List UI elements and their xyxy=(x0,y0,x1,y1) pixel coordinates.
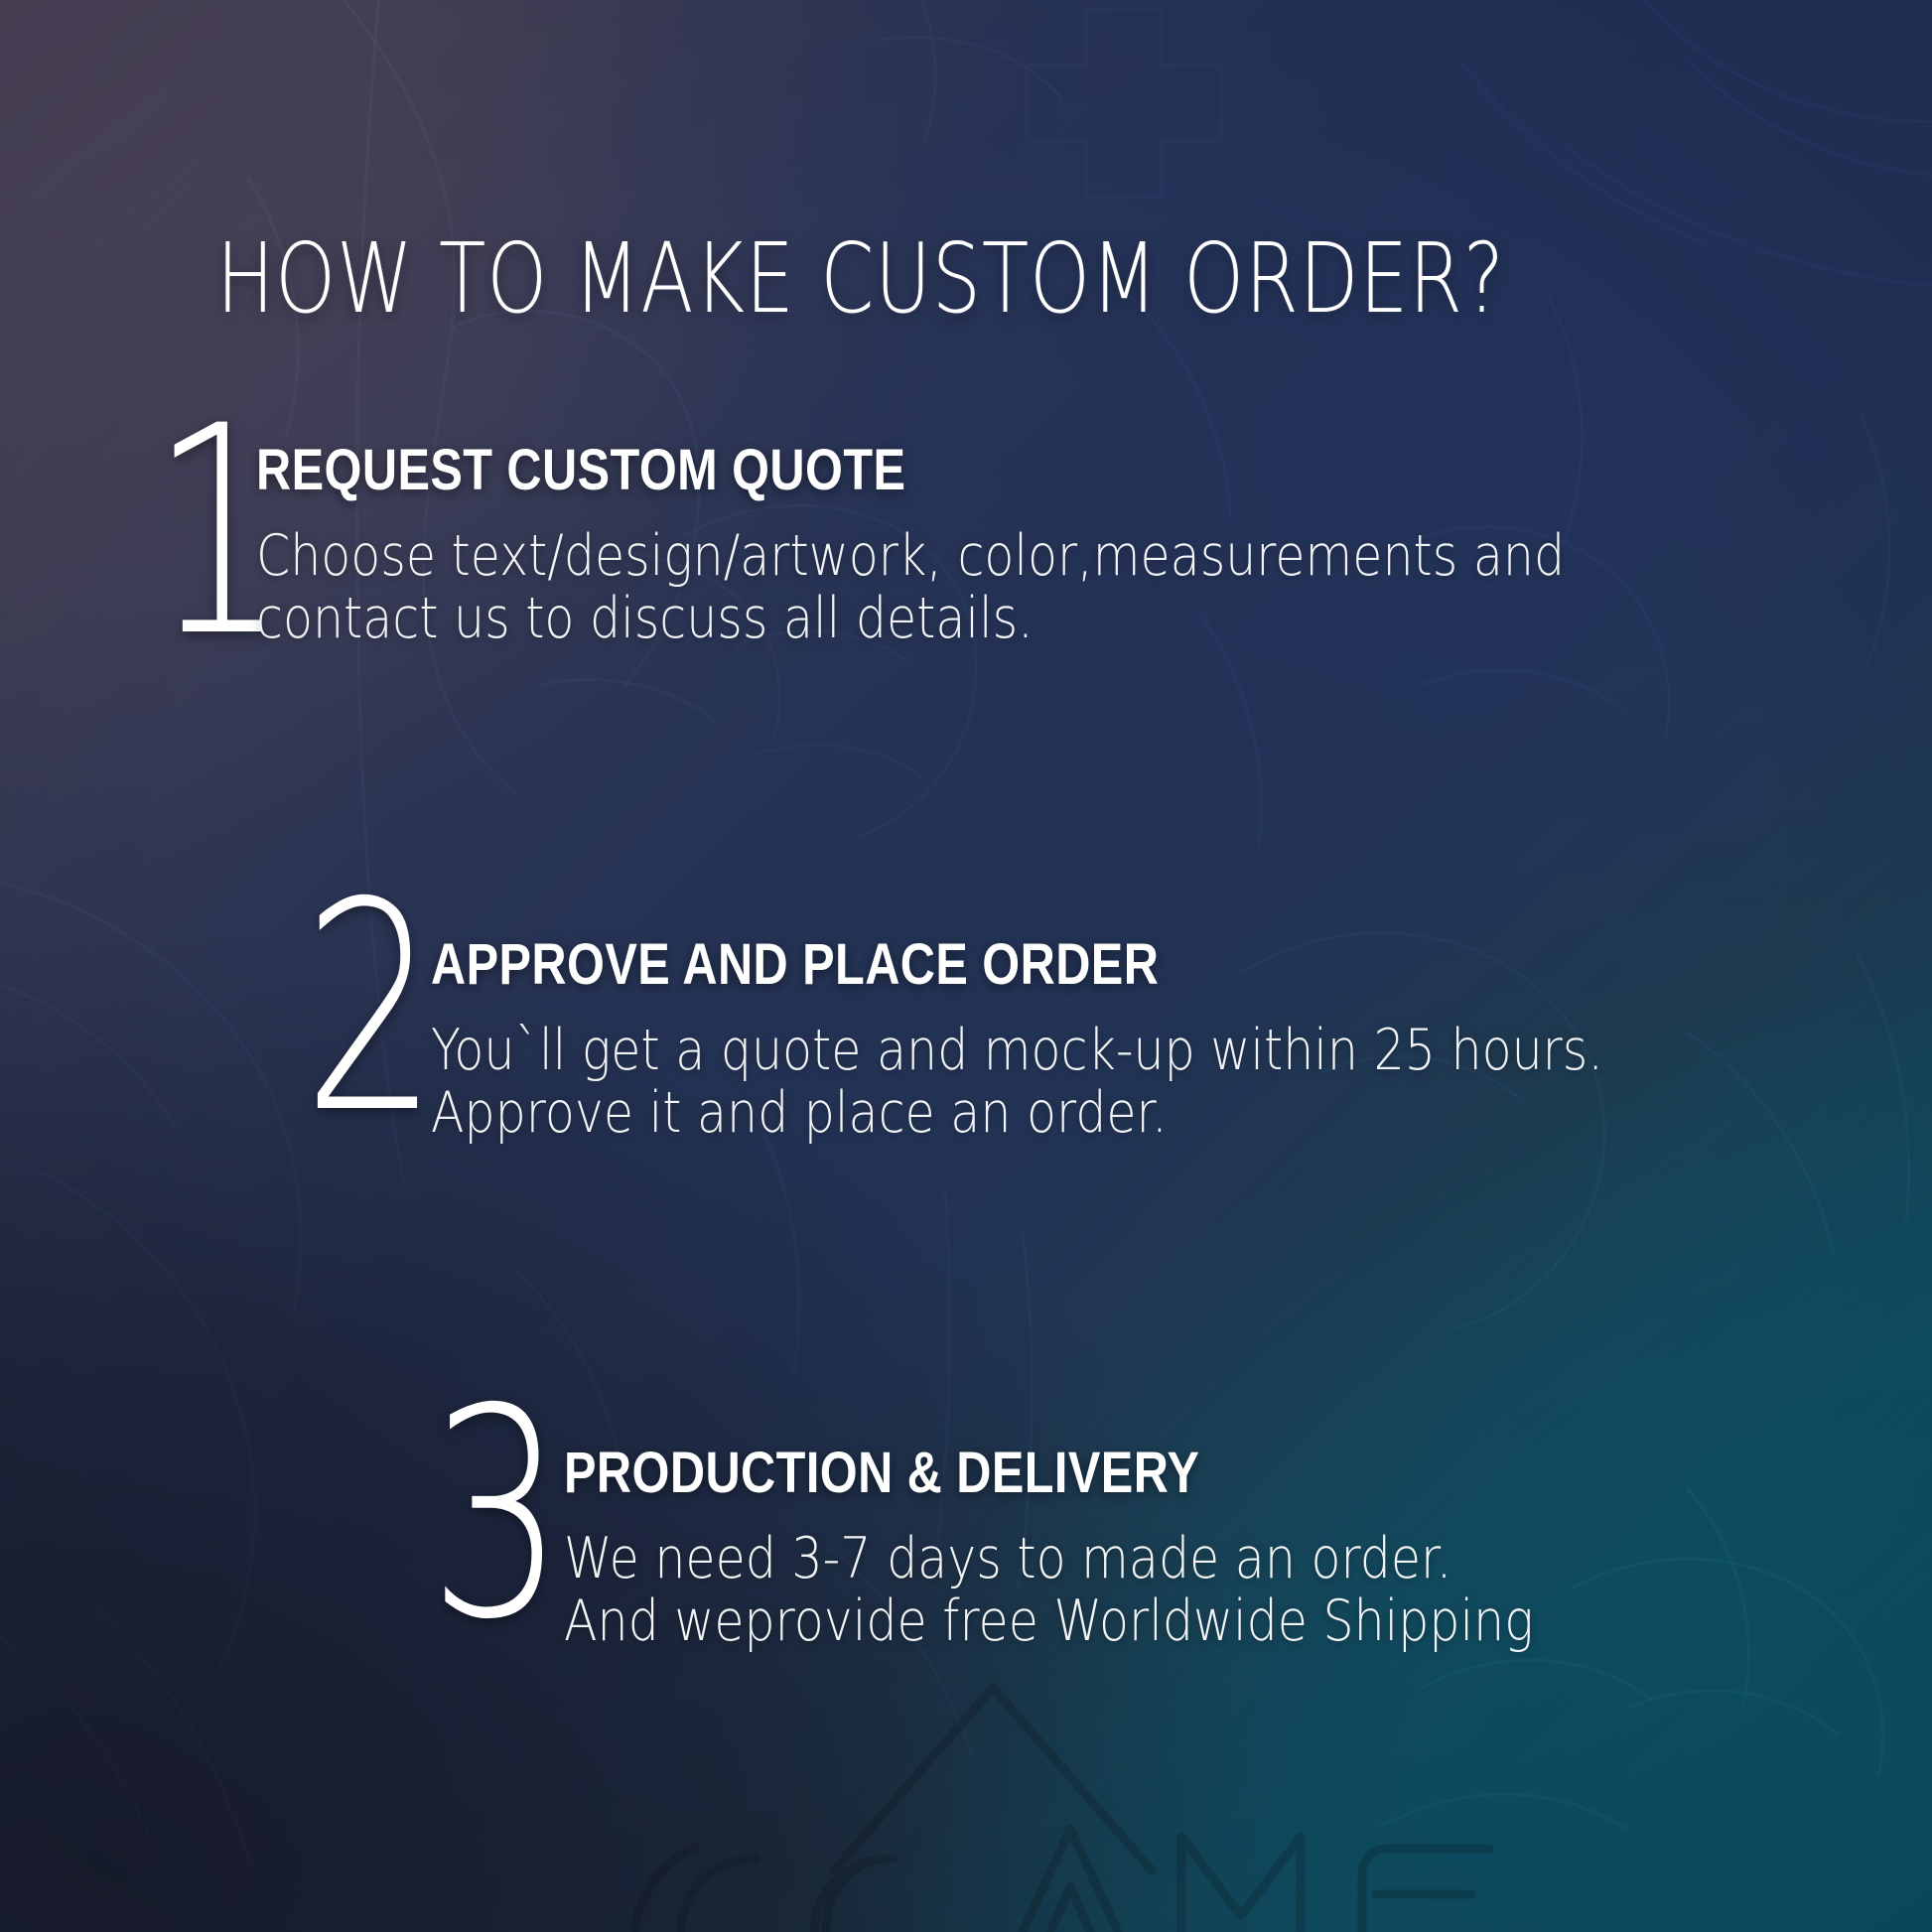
step-description-line: You`ll get a quote and mock-up within 25… xyxy=(431,1020,1603,1082)
step-description-line: Approve it and place an order. xyxy=(431,1082,1603,1145)
step-body-2: APPROVE AND PLACE ORDER You`ll get a quo… xyxy=(431,931,1794,1144)
infographic-content: HOW TO MAKE CUSTOM ORDER? 1 REQUEST CUST… xyxy=(0,0,1932,1932)
step-body-1: REQUEST CUSTOM QUOTE Choose text/design/… xyxy=(256,437,1778,649)
step-heading-1: REQUEST CUSTOM QUOTE xyxy=(256,437,1534,503)
step-description-line: And weprovide free Worldwide Shipping xyxy=(564,1590,1534,1653)
step-number-2: 2 xyxy=(303,892,436,1128)
step-description-1: Choose text/design/artwork, color,measur… xyxy=(256,525,1565,649)
step-description-line: Choose text/design/artwork, color,measur… xyxy=(256,525,1565,588)
page-title: HOW TO MAKE CUSTOM ORDER? xyxy=(216,230,1505,327)
step-description-2: You`ll get a quote and mock-up within 25… xyxy=(431,1020,1603,1144)
step-description-3: We need 3-7 days to made an order. And w… xyxy=(564,1528,1534,1652)
step-description-line: We need 3-7 days to made an order. xyxy=(564,1528,1534,1590)
step-heading-2: APPROVE AND PLACE ORDER xyxy=(431,931,1576,998)
step-heading-3: PRODUCTION & DELIVERY xyxy=(564,1440,1511,1506)
step-body-3: PRODUCTION & DELIVERY We need 3-7 days t… xyxy=(564,1440,1692,1652)
step-number-3: 3 xyxy=(429,1398,562,1634)
step-description-line: contact us to discuss all details. xyxy=(256,588,1565,650)
